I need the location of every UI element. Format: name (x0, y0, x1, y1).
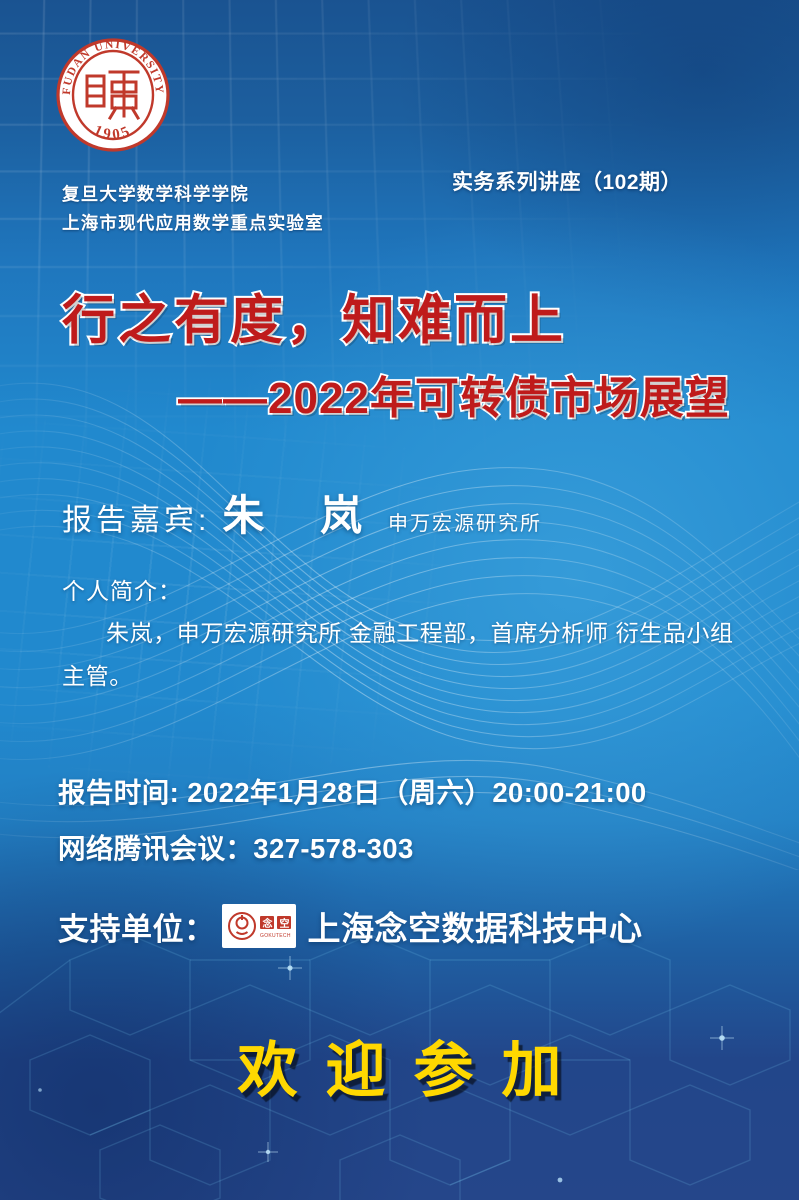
svg-text:GOKUTECH: GOKUTECH (260, 933, 291, 939)
svg-text:念: 念 (261, 917, 272, 930)
speaker-affiliation: 申万宏源研究所 (388, 507, 542, 536)
poster-title: 行之有度，知难而上 (62, 278, 566, 354)
fudan-university-logo: FUDAN UNIVERSITY 1905 (54, 36, 172, 154)
sponsor-block: 支持单位： 念 空 GOKUTECH (58, 902, 643, 950)
meeting-id: 网络腾讯会议：327-578-303 (58, 826, 414, 866)
speaker-name: 朱 岚 (222, 482, 384, 543)
gokutech-logo: 念 空 GOKUTECH (222, 904, 296, 948)
poster-subtitle: ——2022年可转债市场展望 (178, 362, 730, 426)
sponsor-label: 支持单位： (58, 904, 216, 949)
lecture-series-label: 实务系列讲座（102期） (452, 166, 682, 196)
organization-line-1: 复旦大学数学科学学院 (62, 180, 324, 209)
sponsor-name: 上海念空数据科技中心 (308, 902, 643, 950)
gokutech-logo-mark: 念 空 GOKUTECH (222, 904, 296, 948)
welcome-message: 欢迎参加 (0, 1022, 799, 1109)
organization-block: 复旦大学数学科学学院 上海市现代应用数学重点实验室 (62, 180, 324, 238)
seminar-poster: FUDAN UNIVERSITY 1905 复旦大学数学科学学院 上海市现代应用… (0, 0, 799, 1200)
svg-text:空: 空 (279, 917, 289, 930)
organization-line-2: 上海市现代应用数学重点实验室 (62, 209, 324, 238)
bio-text: 朱岚，申万宏源研究所 金融工程部，首席分析师 衍生品小组主管。 (62, 612, 752, 698)
lecture-time: 报告时间: 2022年1月28日（周六）20:00-21:00 (58, 770, 647, 810)
speaker-block: 报告嘉宾: 朱 岚 申万宏源研究所 (62, 482, 542, 543)
bio-label: 个人简介： (62, 572, 182, 606)
speaker-label: 报告嘉宾: (62, 495, 210, 539)
